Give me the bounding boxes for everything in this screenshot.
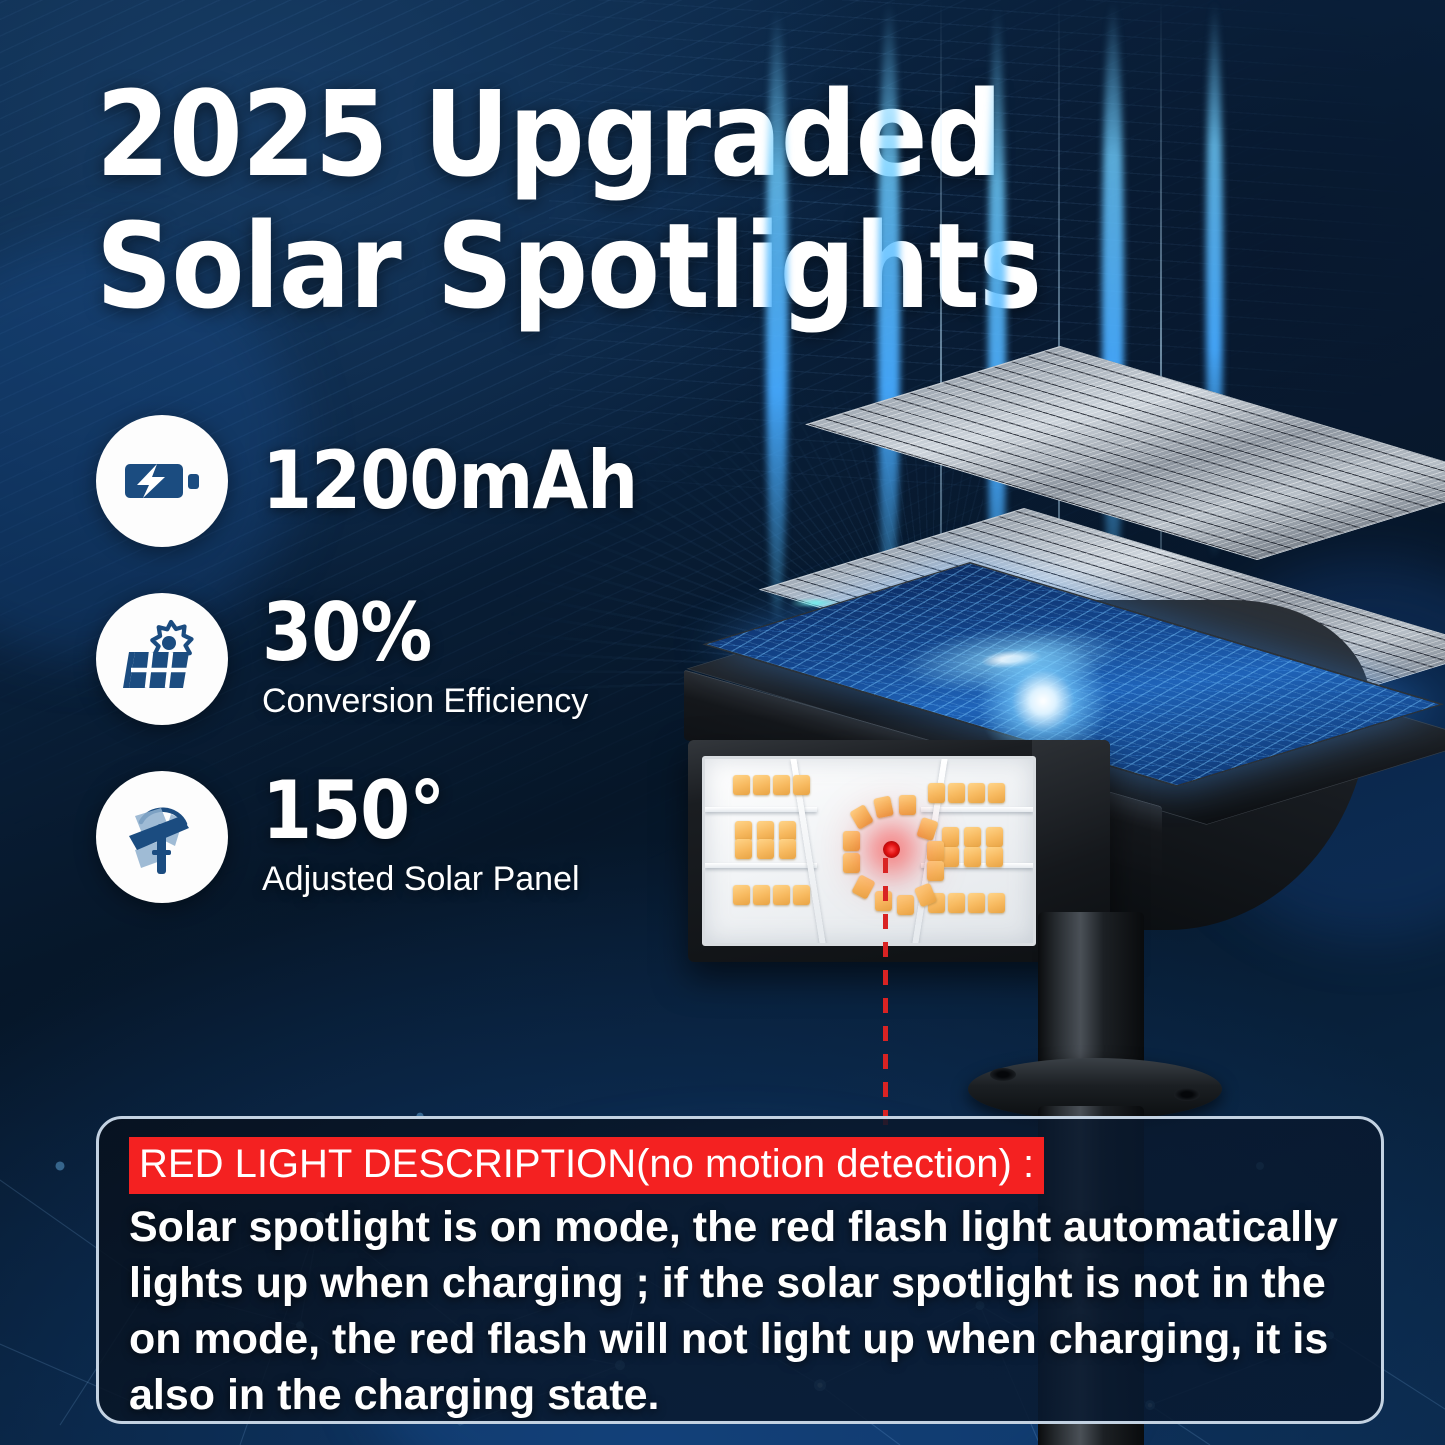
led-chip: [988, 783, 1005, 803]
feature-caption: Adjusted Solar Panel: [262, 858, 580, 901]
led-chip: [916, 817, 938, 841]
led-chip: [757, 821, 774, 841]
led-chip: [928, 783, 945, 803]
red-light-description-callout: RED LIGHT DESCRIPTION(no motion detectio…: [96, 1116, 1384, 1424]
feature-text: 1200mAh: [262, 443, 637, 520]
led-chip: [942, 827, 959, 847]
led-chip: [735, 839, 752, 859]
base-screw-hole-right: [1174, 1088, 1200, 1101]
led-chip: [843, 853, 860, 873]
led-chip: [968, 893, 985, 913]
led-chip: [986, 827, 1003, 847]
led-chip: [968, 783, 985, 803]
led-chip: [773, 885, 790, 905]
led-chip: [927, 861, 944, 881]
led-chip: [779, 821, 796, 841]
feature-item-angle: 150° Adjusted Solar Panel: [96, 748, 736, 926]
feature-icon-badge: [96, 593, 228, 725]
feature-list: 1200mAh 30% Conve: [96, 392, 736, 926]
callout-body-text: Solar spotlight is on mode, the red flas…: [129, 1200, 1355, 1424]
red-indicator-led: [883, 841, 900, 858]
feature-item-efficiency: 30% Conversion Efficiency: [96, 570, 736, 748]
solar-panel-sun-icon: [119, 616, 205, 702]
feature-value: 150°: [262, 773, 580, 850]
page-title: 2025 Upgraded Solar Spotlights: [96, 68, 1096, 332]
feature-icon-badge: [96, 771, 228, 903]
led-chip: [779, 839, 796, 859]
base-screw-hole-left: [990, 1068, 1016, 1081]
product-illustration: [640, 300, 1445, 1130]
led-chip: [948, 893, 965, 913]
led-chip: [753, 775, 770, 795]
led-reflector-face: [702, 756, 1036, 946]
battery-charging-icon: [119, 438, 205, 524]
led-chip: [843, 831, 860, 851]
led-chip: [897, 895, 914, 915]
feature-text: 30% Conversion Efficiency: [262, 595, 588, 722]
led-chip: [927, 841, 944, 861]
led-chip: [964, 827, 981, 847]
led-chip: [986, 847, 1003, 867]
feature-icon-badge: [96, 415, 228, 547]
adjustable-panel-icon: [119, 794, 205, 880]
feature-text: 150° Adjusted Solar Panel: [262, 773, 580, 900]
led-chip: [849, 804, 874, 830]
feature-value: 30%: [262, 595, 588, 672]
led-chip: [773, 775, 790, 795]
product-marketing-image: 2025 Upgraded Solar Spotlights: [0, 0, 1445, 1445]
led-chip: [753, 885, 770, 905]
led-chip: [735, 821, 752, 841]
led-chip: [899, 795, 916, 815]
led-chip: [793, 775, 810, 795]
led-chip: [942, 847, 959, 867]
led-chip: [757, 839, 774, 859]
led-chip: [988, 893, 1005, 913]
feature-caption: Conversion Efficiency: [262, 680, 588, 723]
led-chip: [873, 795, 894, 818]
led-chip: [851, 874, 875, 900]
led-chip: [948, 783, 965, 803]
led-chip: [793, 885, 810, 905]
headline-line-1: 2025 Upgraded: [96, 65, 1002, 203]
led-chip: [964, 847, 981, 867]
callout-banner: RED LIGHT DESCRIPTION(no motion detectio…: [129, 1137, 1044, 1194]
feature-item-battery: 1200mAh: [96, 392, 736, 570]
feature-value: 1200mAh: [262, 443, 637, 520]
circuit-board-layer: [970, 562, 1444, 768]
